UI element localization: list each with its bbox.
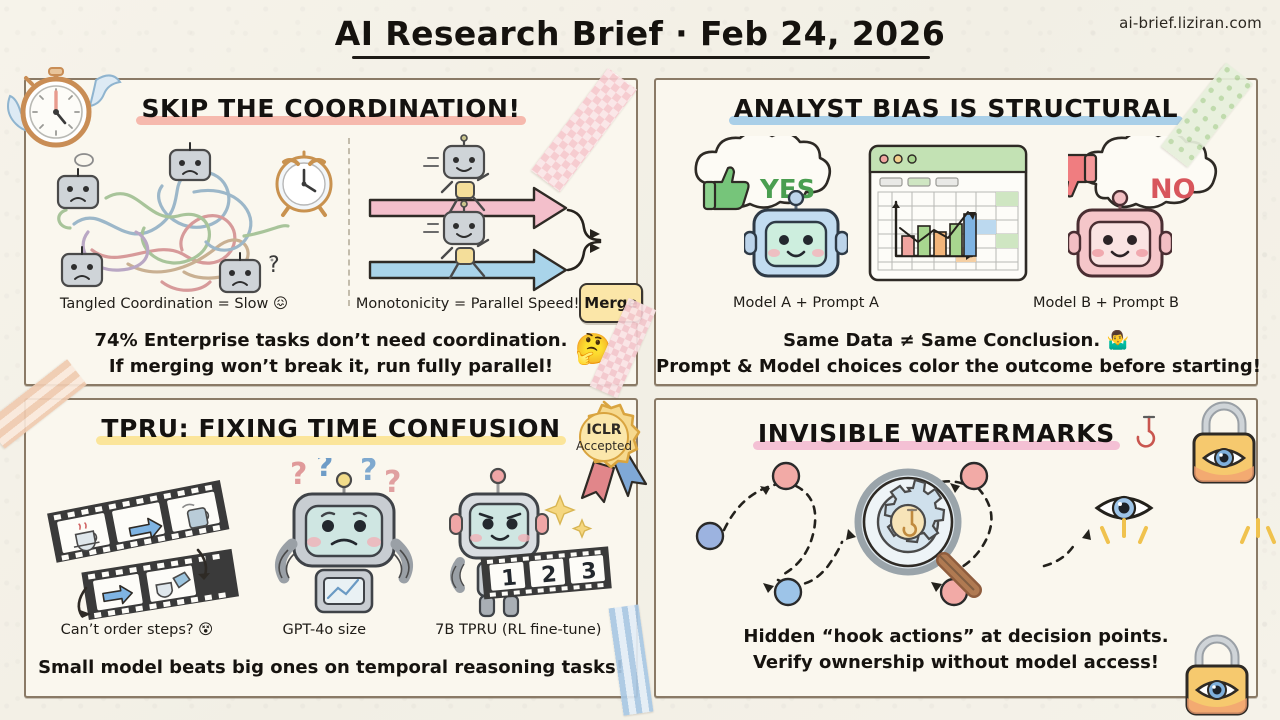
svg-text:?: ? <box>360 458 377 488</box>
summary-skip-coordination: 74% Enterprise tasks don’t need coordina… <box>26 328 636 379</box>
caption-row-tpru: Can’t order steps? 😵 GPT-4o size 7B TPRU… <box>26 622 636 638</box>
summary-tpru: Small model beats big ones on temporal r… <box>26 655 636 681</box>
page-title: AI Research Brief · Feb 24, 2026 <box>0 14 1280 53</box>
summary-line-1: Same Data ≠ Same Conclusion. 🤷‍♂️ <box>656 328 1256 354</box>
spreadsheet-chart-illustration <box>868 144 1028 282</box>
summary-watermarks: Hidden “hook actions” at decision points… <box>656 624 1256 675</box>
panel-heading-text: ANALYST BIAS IS STRUCTURAL <box>729 94 1183 123</box>
trajectory-node-start <box>697 523 723 549</box>
lock-eye-sticker-top <box>1186 396 1262 488</box>
trajectory-node-4 <box>961 463 987 489</box>
caption-7b-tpru: 7B TPRU (RL fine-tune) <box>435 622 601 638</box>
film-number-3: 3 <box>580 559 597 585</box>
panel-analyst-bias: ANALYST BIAS IS STRUCTURAL YES NO <box>654 78 1258 386</box>
svg-text:?: ? <box>316 458 333 484</box>
sparkle-rays-icon <box>1092 512 1280 552</box>
robot-model-a <box>744 190 848 300</box>
title-underline <box>352 56 930 59</box>
trajectory-node-3 <box>775 579 801 605</box>
panel-heading-text: TPRU: FIXING TIME CONFUSION <box>96 414 565 443</box>
fish-hook-icon <box>1133 414 1159 448</box>
summary-line-1: 74% Enterprise tasks don’t need coordina… <box>26 328 636 354</box>
panel-tpru-time: TPRU: FIXING TIME CONFUSION <box>24 398 638 698</box>
panel-heading-text: INVISIBLE WATERMARKS <box>753 419 1120 448</box>
winged-stopwatch-sticker <box>4 62 124 166</box>
robot-confused-gpt4o: ? ? ? ? <box>264 458 424 618</box>
panel-heading-analyst-bias: ANALYST BIAS IS STRUCTURAL <box>656 94 1256 123</box>
svg-text:?: ? <box>290 458 307 492</box>
badge-line-1: ICLR <box>586 422 621 438</box>
header: AI Research Brief · Feb 24, 2026 ai-brie… <box>0 0 1280 70</box>
film-strip-illustration <box>40 462 246 620</box>
agent-trajectory-illustration <box>678 458 1118 618</box>
parallel-speed-illustration <box>366 132 628 308</box>
washi-tape-blue-bottom <box>609 604 654 715</box>
summary-line-1: Hidden “hook actions” at decision points… <box>656 624 1256 650</box>
film-number-2: 2 <box>540 562 557 588</box>
summary-line-1: Small model beats big ones on temporal r… <box>26 655 636 681</box>
svg-text:?: ? <box>384 465 401 500</box>
trajectory-node-2 <box>773 463 799 489</box>
svg-text:?: ? <box>268 253 280 278</box>
panel-inner-divider <box>348 138 350 306</box>
panel-invisible-watermarks: INVISIBLE WATERMARKS <box>654 398 1258 698</box>
panel-heading-text: SKIP THE COORDINATION! <box>136 94 525 123</box>
summary-analyst-bias: Same Data ≠ Same Conclusion. 🤷‍♂️ Prompt… <box>656 328 1256 379</box>
summary-line-2: If merging won’t break it, run fully par… <box>26 354 636 380</box>
badge-line-2: Accepted <box>576 439 632 453</box>
summary-line-2: Prompt & Model choices color the outcome… <box>656 354 1256 380</box>
film-number-1: 1 <box>500 566 517 592</box>
caption-gpt4o-size: GPT-4o size <box>282 622 366 638</box>
summary-line-2: Verify ownership without model access! <box>656 650 1256 676</box>
site-url-label: ai-brief.liziran.com <box>1119 14 1262 32</box>
panel-heading-tpru: TPRU: FIXING TIME CONFUSION <box>26 414 636 443</box>
caption-cant-order-steps: Can’t order steps? 😵 <box>61 622 214 638</box>
robot-model-b <box>1068 190 1172 300</box>
iclr-accepted-badge: ICLR Accepted <box>556 396 652 504</box>
lock-eye-sticker-bottom <box>1178 630 1256 720</box>
panel-heading-watermarks: INVISIBLE WATERMARKS <box>656 414 1256 448</box>
